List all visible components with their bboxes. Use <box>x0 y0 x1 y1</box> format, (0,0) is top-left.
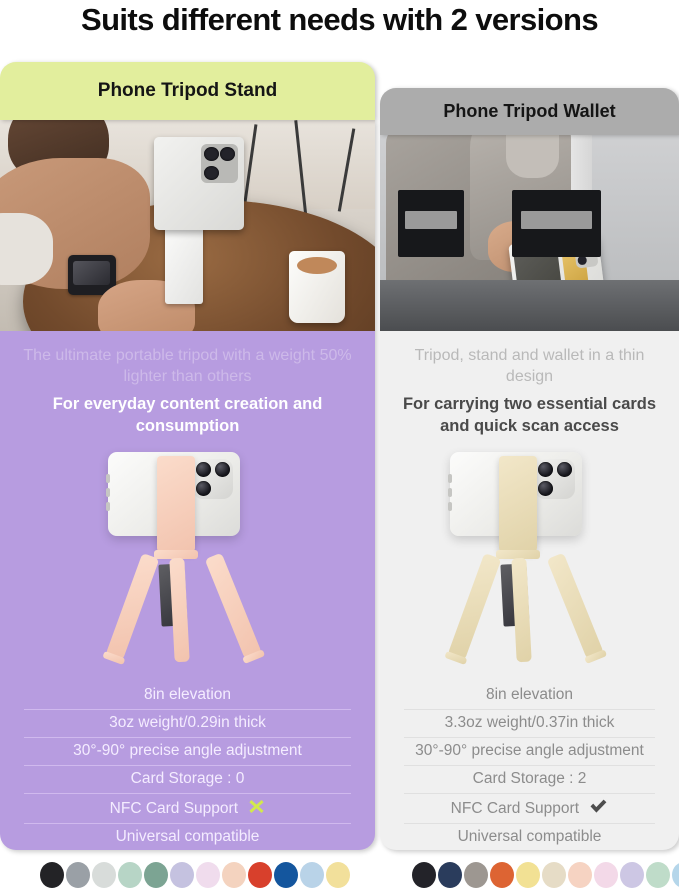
color-swatch[interactable] <box>144 862 168 888</box>
spec-text: Universal compatible <box>116 828 260 845</box>
color-swatch[interactable] <box>568 862 592 888</box>
color-swatch[interactable] <box>516 862 540 888</box>
spec-text: NFC Card Support <box>451 800 579 817</box>
page-title: Suits different needs with 2 versions <box>0 0 679 38</box>
spec-row: Universal compatible <box>16 823 359 850</box>
copy-block-tripod-wallet: Tripod, stand and wallet in a thin desig… <box>380 331 679 438</box>
color-swatches-tripod-stand <box>40 862 350 888</box>
color-swatch[interactable] <box>646 862 670 888</box>
tab-phone-tripod-wallet[interactable]: Phone Tripod Wallet <box>380 88 679 135</box>
spec-row: 8in elevation <box>396 681 663 709</box>
color-swatch[interactable] <box>594 862 618 888</box>
product-card-tripod-wallet: Tripod, stand and wallet in a thin desig… <box>380 135 679 850</box>
spec-row: Card Storage : 2 <box>396 765 663 793</box>
product-subtitle: The ultimate portable tripod with a weig… <box>14 345 361 387</box>
spec-text: 8in elevation <box>486 686 573 703</box>
product-render-tripod-wallet <box>380 438 679 681</box>
color-swatch[interactable] <box>40 862 64 888</box>
product-render-tripod-stand <box>0 438 375 681</box>
color-swatch[interactable] <box>326 862 350 888</box>
color-swatch[interactable] <box>196 862 220 888</box>
spec-row: 8in elevation <box>16 681 359 709</box>
copy-block-tripod-stand: The ultimate portable tripod with a weig… <box>0 331 375 438</box>
product-tagline: For everyday content creation and consum… <box>14 394 361 438</box>
color-swatch[interactable] <box>412 862 436 888</box>
product-tagline: For carrying two essential cards and qui… <box>394 394 665 438</box>
color-swatch[interactable] <box>542 862 566 888</box>
spec-text: Card Storage : 2 <box>473 770 587 787</box>
spec-text: 8in elevation <box>144 686 231 703</box>
spec-row-nfc: NFC Card Support <box>396 793 663 823</box>
color-swatch[interactable] <box>490 862 514 888</box>
color-swatch[interactable] <box>464 862 488 888</box>
color-swatch[interactable] <box>248 862 272 888</box>
check-icon <box>589 798 608 815</box>
spec-row: 3oz weight/0.29in thick <box>16 709 359 737</box>
spec-row: 30°-90° precise angle adjustment <box>396 737 663 765</box>
color-swatch[interactable] <box>92 862 116 888</box>
product-card-tripod-stand: The ultimate portable tripod with a weig… <box>0 120 375 850</box>
comparison-stage: Phone Tripod Stand <box>0 62 679 857</box>
spec-text: Card Storage : 0 <box>131 770 245 787</box>
color-swatch[interactable] <box>274 862 298 888</box>
lifestyle-photo-tripod-stand <box>0 120 375 331</box>
spec-row: Card Storage : 0 <box>16 765 359 793</box>
tab-phone-tripod-stand[interactable]: Phone Tripod Stand <box>0 62 375 120</box>
spec-row-nfc: NFC Card Support <box>16 793 359 823</box>
spec-text: 30°-90° precise angle adjustment <box>415 742 644 759</box>
color-swatches-tripod-wallet <box>412 862 679 888</box>
spec-row: 30°-90° precise angle adjustment <box>16 737 359 765</box>
color-swatch[interactable] <box>170 862 194 888</box>
color-swatch[interactable] <box>222 862 246 888</box>
spec-text: Universal compatible <box>458 828 602 845</box>
tab-label: Phone Tripod Wallet <box>443 101 615 122</box>
spec-text: NFC Card Support <box>110 800 238 817</box>
color-swatch[interactable] <box>672 862 679 888</box>
spec-list-tripod-stand: 8in elevation 3oz weight/0.29in thick 30… <box>0 681 375 850</box>
lifestyle-photo-tripod-wallet <box>380 135 679 331</box>
color-swatch[interactable] <box>620 862 644 888</box>
tab-label: Phone Tripod Stand <box>98 80 277 102</box>
spec-list-tripod-wallet: 8in elevation 3.3oz weight/0.37in thick … <box>380 681 679 850</box>
spec-text: 30°-90° precise angle adjustment <box>73 742 302 759</box>
color-swatch[interactable] <box>300 862 324 888</box>
spec-text: 3oz weight/0.29in thick <box>109 714 266 731</box>
color-swatch[interactable] <box>438 862 462 888</box>
cross-icon <box>248 798 265 815</box>
spec-text: 3.3oz weight/0.37in thick <box>445 714 615 731</box>
color-swatch[interactable] <box>118 862 142 888</box>
spec-row: 3.3oz weight/0.37in thick <box>396 709 663 737</box>
color-swatch[interactable] <box>66 862 90 888</box>
product-subtitle: Tripod, stand and wallet in a thin desig… <box>394 345 665 387</box>
spec-row: Universal compatible <box>396 823 663 850</box>
